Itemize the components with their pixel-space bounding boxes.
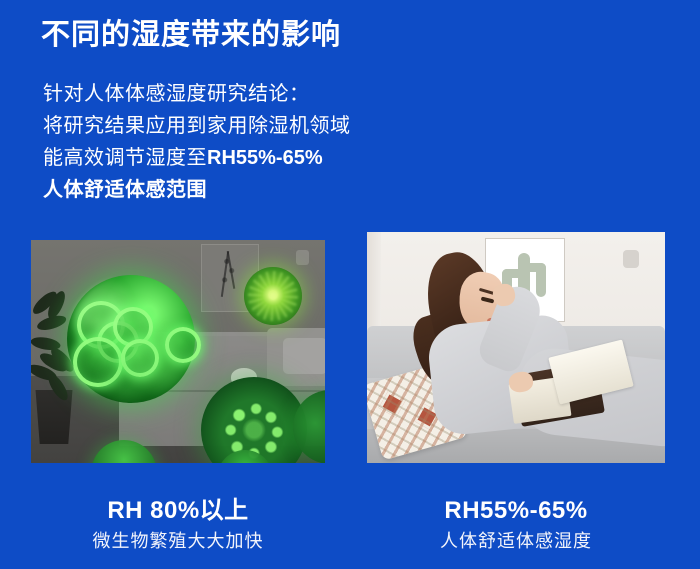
woman-reading: [407, 248, 637, 458]
microbe-sphere-small: [244, 267, 302, 325]
microbe-cluster-large: [67, 275, 195, 403]
sofa-cushion: [283, 338, 325, 374]
body-line-3: 能高效调节湿度至RH55%-65%: [43, 142, 351, 174]
body-copy: 针对人体体感湿度研究结论： 将研究结果应用到家用除湿机领域 能高效调节湿度至RH…: [43, 78, 351, 206]
wall-thermostat-icon: [296, 250, 309, 265]
microbe-ring: [97, 321, 139, 363]
caption-title: RH55%-65%: [367, 498, 665, 524]
microbe-ring: [77, 301, 125, 349]
plant-pot: [33, 390, 75, 444]
body-line-1: 针对人体体感湿度研究结论：: [43, 78, 351, 110]
caption-title: RH 80%以上: [31, 498, 325, 524]
body-line-3-prefix: 能高效调节湿度至: [43, 147, 207, 169]
caption-high-humidity: RH 80%以上 微生物繁殖大大加快: [31, 498, 325, 553]
microbe-ring: [165, 327, 201, 363]
poster-root: 不同的湿度带来的影响 针对人体体感湿度研究结论： 将研究结果应用到家用除湿机领域…: [0, 0, 700, 569]
body-line-4: 人体舒适体感范围: [43, 174, 351, 206]
twig-icon: [221, 251, 229, 297]
body-line-2: 将研究结果应用到家用除湿机领域: [43, 110, 351, 142]
microbe-ring: [113, 307, 153, 347]
caption-subtitle: 人体舒适体感湿度: [367, 531, 665, 553]
caption-subtitle: 微生物繁殖大大加快: [31, 531, 325, 553]
twig-icon: [227, 251, 235, 289]
image-panel-high-humidity: [31, 240, 325, 463]
microbe-ring: [121, 339, 159, 377]
page-title: 不同的湿度带来的影响: [41, 19, 341, 52]
microbe-ring: [73, 337, 123, 387]
image-panel-comfort-humidity: [367, 232, 665, 463]
caption-comfort-humidity: RH55%-65% 人体舒适体感湿度: [367, 498, 665, 553]
body-line-3-highlight: RH55%-65%: [207, 147, 323, 169]
bright-room-scene: [367, 232, 665, 463]
dark-room-scene: [31, 240, 325, 463]
pillow-motif: [379, 390, 406, 417]
